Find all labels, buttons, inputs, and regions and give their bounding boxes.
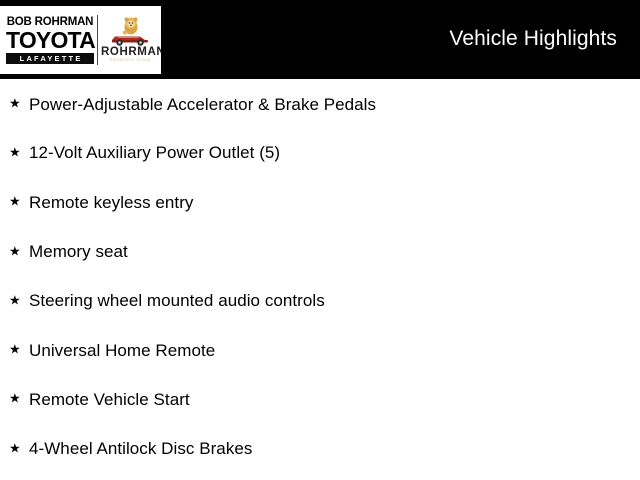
list-item-label: Remote Vehicle Start [29, 390, 190, 409]
rohrman-automotive-group-logo: ROHRMAN Automotive Group [101, 15, 159, 67]
list-item-label: Remote keyless entry [29, 193, 193, 212]
star-bullet-icon: ★ [9, 344, 21, 357]
page-header: BOB ROHRMAN TOYOTA LAFAYETTE [0, 0, 640, 79]
logo-lafayette-bar: LAFAYETTE [6, 53, 94, 64]
list-item: ★ Remote keyless entry [0, 178, 640, 227]
rohrman-tagline: Automotive Group [101, 58, 159, 63]
list-item: ★ Universal Home Remote [0, 325, 640, 374]
rohrman-wordmark: ROHRMAN [101, 46, 159, 58]
list-item-label: Power-Adjustable Accelerator & Brake Ped… [29, 95, 376, 114]
list-item-label: 4-Wheel Antilock Disc Brakes [29, 439, 252, 458]
list-item-label: 12-Volt Auxiliary Power Outlet (5) [29, 143, 280, 162]
star-bullet-icon: ★ [9, 393, 21, 406]
bob-rohrman-toyota-logo: BOB ROHRMAN TOYOTA LAFAYETTE [6, 16, 94, 64]
dealer-logo-card: BOB ROHRMAN TOYOTA LAFAYETTE [0, 6, 161, 74]
list-item: ★ Steering wheel mounted audio controls [0, 276, 640, 325]
logo-line-lafayette: LAFAYETTE [17, 54, 82, 63]
list-item-label: Universal Home Remote [29, 341, 215, 360]
logo-divider [97, 15, 98, 65]
star-bullet-icon: ★ [9, 97, 21, 110]
star-bullet-icon: ★ [9, 442, 21, 455]
list-item-label: Memory seat [29, 242, 128, 261]
page-title: Vehicle Highlights [449, 28, 617, 50]
star-bullet-icon: ★ [9, 294, 21, 307]
star-bullet-icon: ★ [9, 196, 21, 209]
star-bullet-icon: ★ [9, 245, 21, 258]
lion-in-red-car-icon [109, 15, 151, 47]
list-item: ★ Memory seat [0, 227, 640, 276]
star-bullet-icon: ★ [9, 146, 21, 159]
list-item: ★ 4-Wheel Antilock Disc Brakes [0, 424, 640, 473]
vehicle-highlights-list: ★ Power-Adjustable Accelerator & Brake P… [0, 79, 640, 480]
list-item: ★ Power-Adjustable Accelerator & Brake P… [0, 79, 640, 128]
logo-line-toyota: TOYOTA [6, 29, 94, 51]
list-item: ★ 12-Volt Auxiliary Power Outlet (5) [0, 128, 640, 177]
list-item-label: Steering wheel mounted audio controls [29, 291, 325, 310]
list-item: ★ Remote Vehicle Start [0, 375, 640, 424]
